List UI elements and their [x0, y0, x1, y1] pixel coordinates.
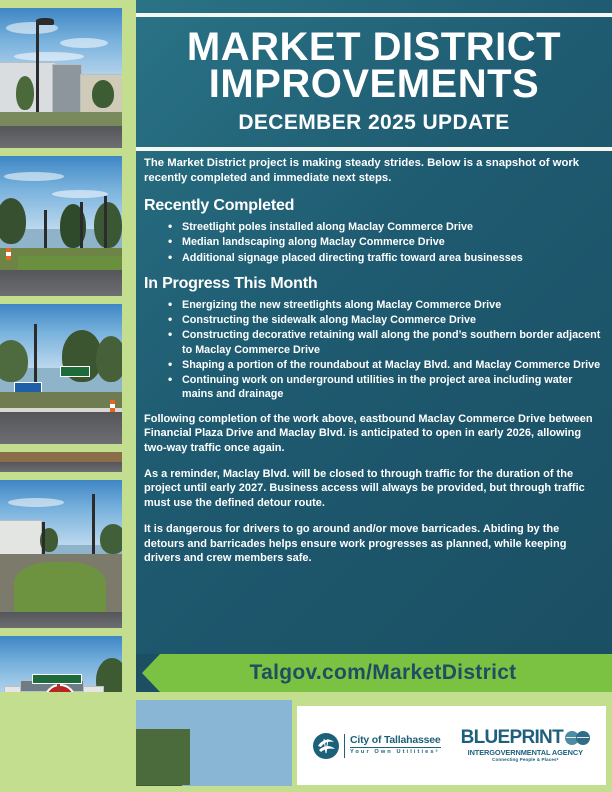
recently-completed-list: Streetlight poles installed along Maclay…	[144, 220, 606, 265]
tree-shape	[0, 198, 26, 244]
body-content: The Market District project is making st…	[144, 156, 606, 566]
utility-pole-shape	[92, 494, 95, 556]
photo-median-landscaping	[0, 156, 122, 296]
intro-paragraph: The Market District project is making st…	[144, 156, 606, 186]
cloud-shape	[8, 498, 64, 507]
cloud-shape	[60, 38, 108, 48]
tree-shape	[136, 785, 182, 786]
list-item: Median landscaping along Maclay Commerce…	[182, 235, 606, 249]
list-item: Constructing the sidewalk along Maclay C…	[182, 313, 606, 327]
city-logo-name: City of Tallahassee	[350, 735, 441, 748]
page-title-line1: MARKET DISTRICT	[187, 29, 561, 66]
list-item: Energizing the new streetlights along Ma…	[182, 298, 606, 312]
flyer-page: MARKET DISTRICT IMPROVEMENTS DECEMBER 20…	[0, 0, 612, 792]
logo-divider	[344, 734, 345, 758]
building-shape	[52, 64, 82, 114]
in-progress-list: Energizing the new streetlights along Ma…	[144, 298, 606, 402]
swoosh-icon	[316, 737, 336, 755]
page-title-line2: IMPROVEMENTS	[209, 66, 539, 103]
cloud-shape	[4, 172, 64, 181]
streetlight-pole-shape	[42, 522, 45, 556]
photo-streetlight-pole	[0, 8, 122, 148]
street-name-sign-shape	[32, 674, 82, 684]
paragraph-maclay-closure: As a reminder, Maclay Blvd. will be clos…	[144, 467, 606, 511]
photo-grass-median	[0, 480, 122, 628]
tree-shape	[94, 202, 122, 248]
traffic-barrel-shape	[6, 248, 11, 260]
photo-roadway-signage	[0, 304, 122, 444]
blueprint-logo-tagline: Connecting People & Placesˢ	[461, 758, 590, 763]
page-subtitle: DECEMBER 2025 UPDATE	[238, 111, 509, 135]
paragraph-safety-reminder: It is dangerous for drivers to go around…	[144, 522, 606, 566]
section-heading-in-progress: In Progress This Month	[144, 275, 606, 293]
list-item: Shaping a portion of the roundabout at M…	[182, 358, 606, 372]
tree-shape	[16, 76, 34, 110]
tree-shape	[100, 524, 122, 554]
url-banner[interactable]: Talgov.com/MarketDistrict	[136, 654, 612, 692]
list-item: Streetlight poles installed along Maclay…	[182, 220, 606, 234]
road-shape	[0, 270, 122, 296]
flyer-header: MARKET DISTRICT IMPROVEMENTS DECEMBER 20…	[136, 17, 612, 147]
header-divider-rule	[136, 147, 612, 151]
left-photo-column	[0, 0, 136, 792]
globe-icon	[576, 731, 590, 745]
blueprint-wordmark-row: BLUEPRINT	[461, 728, 590, 747]
section-heading-recently-completed: Recently Completed	[144, 197, 606, 215]
tree-shape	[92, 80, 114, 108]
city-logo-text: City of Tallahassee Your Own Utilitiesˢ	[350, 735, 441, 755]
road-shape	[0, 126, 122, 148]
list-item: Additional signage placed directing traf…	[182, 251, 606, 265]
road-shape	[0, 412, 122, 444]
street-sign-shape	[60, 366, 90, 377]
main-content-panel: MARKET DISTRICT IMPROVEMENTS DECEMBER 20…	[136, 0, 612, 654]
blueprint-logo-name: BLUEPRINT	[461, 728, 563, 747]
grass-median-shape	[14, 562, 106, 616]
road-shape	[0, 462, 122, 472]
streetlight-lamp-shape	[36, 18, 54, 25]
photo-tree-lined-roadway	[136, 700, 292, 786]
city-logo-tagline: Your Own Utilitiesˢ	[350, 750, 441, 756]
city-of-tallahassee-logo: City of Tallahassee Your Own Utilitiesˢ	[313, 733, 441, 759]
road-shape	[0, 612, 122, 628]
photo-sky	[136, 700, 292, 729]
cloud-shape	[14, 52, 84, 61]
footer-logo-box: City of Tallahassee Your Own Utilitiesˢ …	[297, 706, 606, 785]
blueprint-globes-icon	[565, 731, 590, 745]
tree-shape	[136, 729, 190, 785]
photo-curb-landscaping	[0, 452, 122, 472]
paragraph-eastbound-opening: Following completion of the work above, …	[144, 412, 606, 456]
list-item: Constructing decorative retaining wall a…	[182, 328, 606, 357]
blueprint-logo-subtitle: INTERGOVERNMENTAL AGENCY	[461, 749, 590, 756]
list-item: Continuing work on underground utilities…	[182, 373, 606, 402]
url-banner-text[interactable]: Talgov.com/MarketDistrict	[232, 661, 517, 685]
tree-shape	[0, 340, 28, 382]
traffic-barrel-shape	[110, 400, 115, 412]
blueprint-logo: BLUEPRINT INTERGOVERNMENTAL AGENCY Conne…	[461, 728, 590, 763]
city-seal-icon	[313, 733, 339, 759]
cloud-shape	[52, 190, 108, 198]
tree-shape	[96, 336, 122, 382]
